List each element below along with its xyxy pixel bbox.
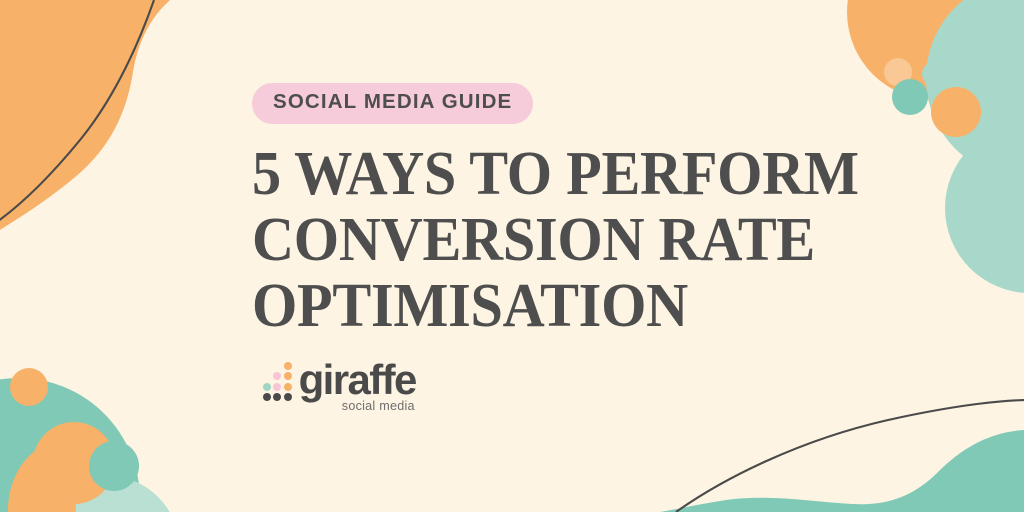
logo-dot-grid-icon (263, 362, 292, 401)
giraffe-logo: giraffe social media (263, 362, 416, 413)
logo-dot-r2c3 (284, 372, 292, 380)
logo-dot-r4c2 (273, 393, 281, 401)
logo-dot-r4c1 (263, 393, 271, 401)
logo-dot-r4c3 (284, 393, 292, 401)
social-media-guide-banner: SOCIAL MEDIA GUIDE 5 WAYS TO PERFORM CON… (0, 0, 1024, 512)
logo-dot-r3c2 (273, 383, 281, 391)
category-badge: SOCIAL MEDIA GUIDE (252, 83, 533, 124)
logo-name: giraffe (299, 362, 416, 398)
logo-dot-r1c3 (284, 362, 292, 370)
logo-dot-r1c1 (263, 362, 271, 370)
logo-dot-r2c1 (263, 372, 271, 380)
logo-dot-r2c2 (273, 372, 281, 380)
logo-dot-r1c2 (273, 362, 281, 370)
page-title-line-1: 5 WAYS TO PERFORM (252, 141, 835, 207)
logo-tagline: social media (342, 400, 415, 413)
page-title: 5 WAYS TO PERFORM CONVERSION RATE OPTIMI… (252, 141, 835, 339)
logo-dot-r3c1 (263, 383, 271, 391)
page-title-line-2: CONVERSION RATE (252, 207, 835, 273)
page-title-line-3: OPTIMISATION (252, 273, 835, 339)
logo-wordmark: giraffe social media (299, 362, 416, 413)
logo-dot-r3c3 (284, 383, 292, 391)
